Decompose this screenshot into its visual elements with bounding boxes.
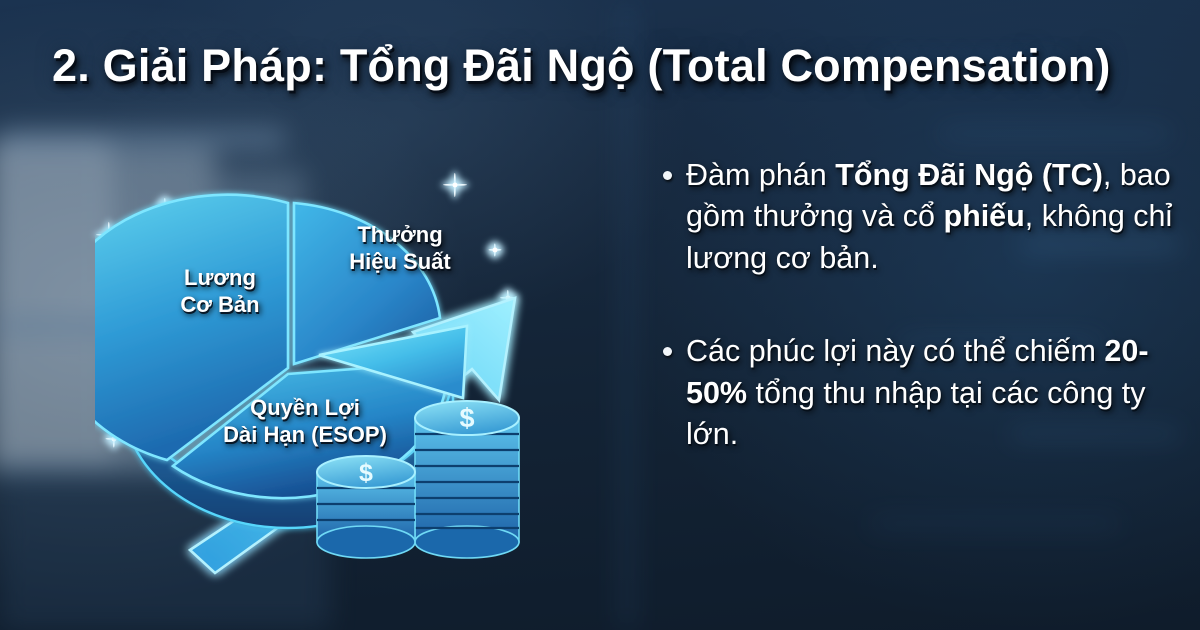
bullet-text-benefit-share: Các phúc lợi này có thể chiếm 20-50% tổn…: [686, 331, 1175, 455]
bg-panel-1: [0, 140, 110, 470]
bullet-dot-icon: [663, 347, 672, 356]
list-item: Đàm phán Tổng Đãi Ngộ (TC), bao gồm thưở…: [655, 155, 1175, 279]
pie-chart-svg: $ $: [95, 150, 665, 610]
bg-streak-2: [940, 130, 1170, 137]
bullet-dot-icon: [663, 171, 672, 180]
slide-title: 2. Giải Pháp: Tổng Đãi Ngộ (Total Compen…: [52, 40, 1172, 92]
coin-stack-short-icon: $: [317, 456, 415, 558]
coin-symbol: $: [459, 403, 474, 433]
coin-symbol: $: [359, 459, 373, 487]
slide-root: 2. Giải Pháp: Tổng Đãi Ngộ (Total Compen…: [0, 0, 1200, 630]
bg-streak-6: [870, 520, 1120, 527]
coin-stack-tall-icon: $: [415, 401, 519, 558]
list-item: Các phúc lợi này có thể chiếm 20-50% tổn…: [655, 331, 1175, 455]
bullet-list: Đàm phán Tổng Đãi Ngộ (TC), bao gồm thưở…: [655, 155, 1175, 508]
bg-beam-top: [0, 128, 285, 150]
bullet-text-total-compensation: Đàm phán Tổng Đãi Ngộ (TC), bao gồm thưở…: [686, 155, 1175, 279]
compensation-graphic: $ $ Lương Cơ Bản Thưởng Hiệu Suất Quyền …: [95, 150, 665, 600]
